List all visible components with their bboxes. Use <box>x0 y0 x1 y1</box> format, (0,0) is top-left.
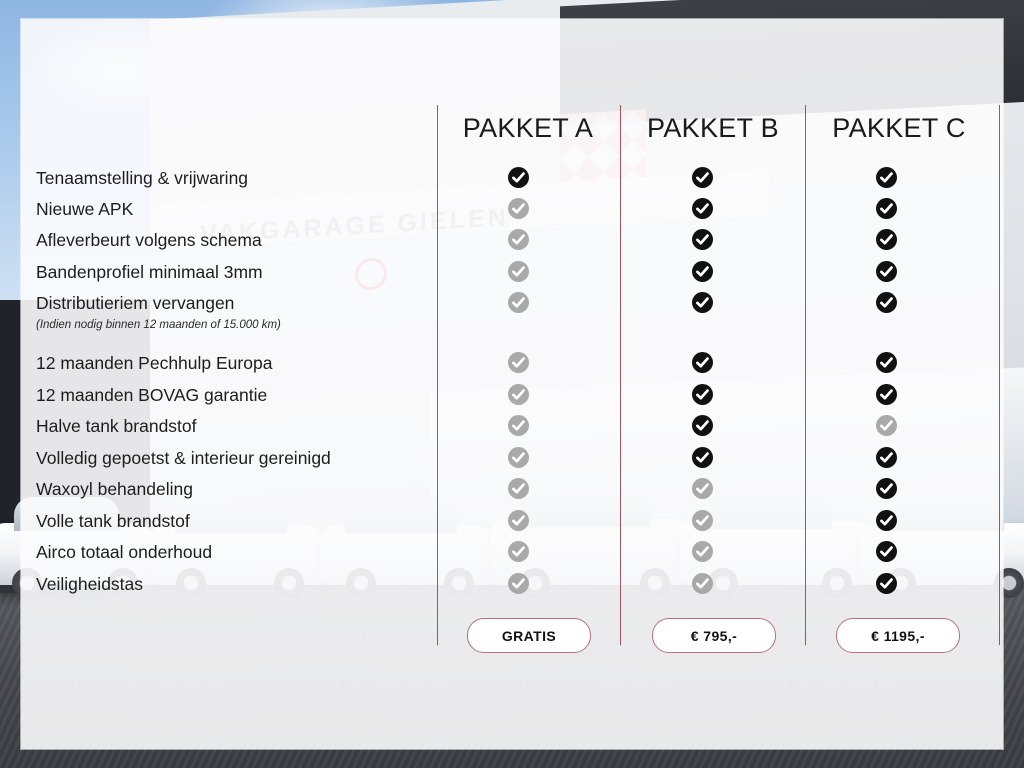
check-icon <box>692 229 713 250</box>
check-icon <box>508 229 529 250</box>
feature-label: Distributieriem vervangen <box>36 293 234 314</box>
check-icon <box>508 541 529 562</box>
feature-label: Afleverbeurt volgens schema <box>36 230 262 251</box>
check-icon <box>876 352 897 373</box>
check-icon <box>508 384 529 405</box>
check-icon <box>876 229 897 250</box>
check-icon <box>508 510 529 531</box>
check-icon <box>876 261 897 282</box>
check-icon <box>876 415 897 436</box>
feature-label: Veiligheidstas <box>36 574 143 595</box>
column-divider <box>437 105 438 645</box>
check-icon <box>692 261 713 282</box>
price-badge-pakket-a[interactable]: GRATIS <box>467 618 591 653</box>
price-badge-pakket-c[interactable]: € 1195,- <box>836 618 960 653</box>
check-icon <box>692 447 713 468</box>
check-icon <box>876 198 897 219</box>
check-icon <box>692 352 713 373</box>
feature-label: Halve tank brandstof <box>36 416 197 437</box>
check-icon <box>692 573 713 594</box>
check-icon <box>692 167 713 188</box>
feature-label: Volle tank brandstof <box>36 511 190 532</box>
check-icon <box>508 447 529 468</box>
feature-label: Bandenprofiel minimaal 3mm <box>36 262 263 283</box>
feature-label: Airco totaal onderhoud <box>36 542 212 563</box>
check-icon <box>508 167 529 188</box>
check-icon <box>692 384 713 405</box>
column-header-pakket-a: PAKKET A <box>435 113 621 144</box>
check-icon <box>876 478 897 499</box>
column-header-pakket-b: PAKKET B <box>620 113 806 144</box>
feature-label: Tenaamstelling & vrijwaring <box>36 168 248 189</box>
check-icon <box>876 292 897 313</box>
check-icon <box>692 541 713 562</box>
check-icon <box>508 352 529 373</box>
check-icon <box>876 447 897 468</box>
column-divider <box>805 105 806 645</box>
check-icon <box>508 573 529 594</box>
check-icon <box>508 261 529 282</box>
check-icon <box>876 510 897 531</box>
feature-label: 12 maanden Pechhulp Europa <box>36 353 272 374</box>
column-divider <box>999 105 1000 645</box>
column-header-pakket-c: PAKKET C <box>806 113 992 144</box>
check-icon <box>692 292 713 313</box>
feature-label: 12 maanden BOVAG garantie <box>36 385 267 406</box>
check-icon <box>876 384 897 405</box>
check-icon <box>508 415 529 436</box>
price-badge-pakket-b[interactable]: € 795,- <box>652 618 776 653</box>
feature-label: Nieuwe APK <box>36 199 133 220</box>
column-divider <box>620 105 621 645</box>
feature-label: Waxoyl behandeling <box>36 479 193 500</box>
check-icon <box>508 478 529 499</box>
check-icon <box>876 541 897 562</box>
slide-canvas: VAKGARAGE GIELEN PAKKET A PAKK <box>0 0 1024 768</box>
check-icon <box>508 292 529 313</box>
package-comparison-table: PAKKET A PAKKET B PAKKET C Tenaamstellin… <box>0 0 1024 768</box>
check-icon <box>876 167 897 188</box>
feature-label: Volledig gepoetst & interieur gereinigd <box>36 448 331 469</box>
check-icon <box>508 198 529 219</box>
check-icon <box>692 510 713 531</box>
feature-subnote: (Indien nodig binnen 12 maanden of 15.00… <box>36 319 281 331</box>
check-icon <box>692 478 713 499</box>
check-icon <box>876 573 897 594</box>
check-icon <box>692 198 713 219</box>
check-icon <box>692 415 713 436</box>
